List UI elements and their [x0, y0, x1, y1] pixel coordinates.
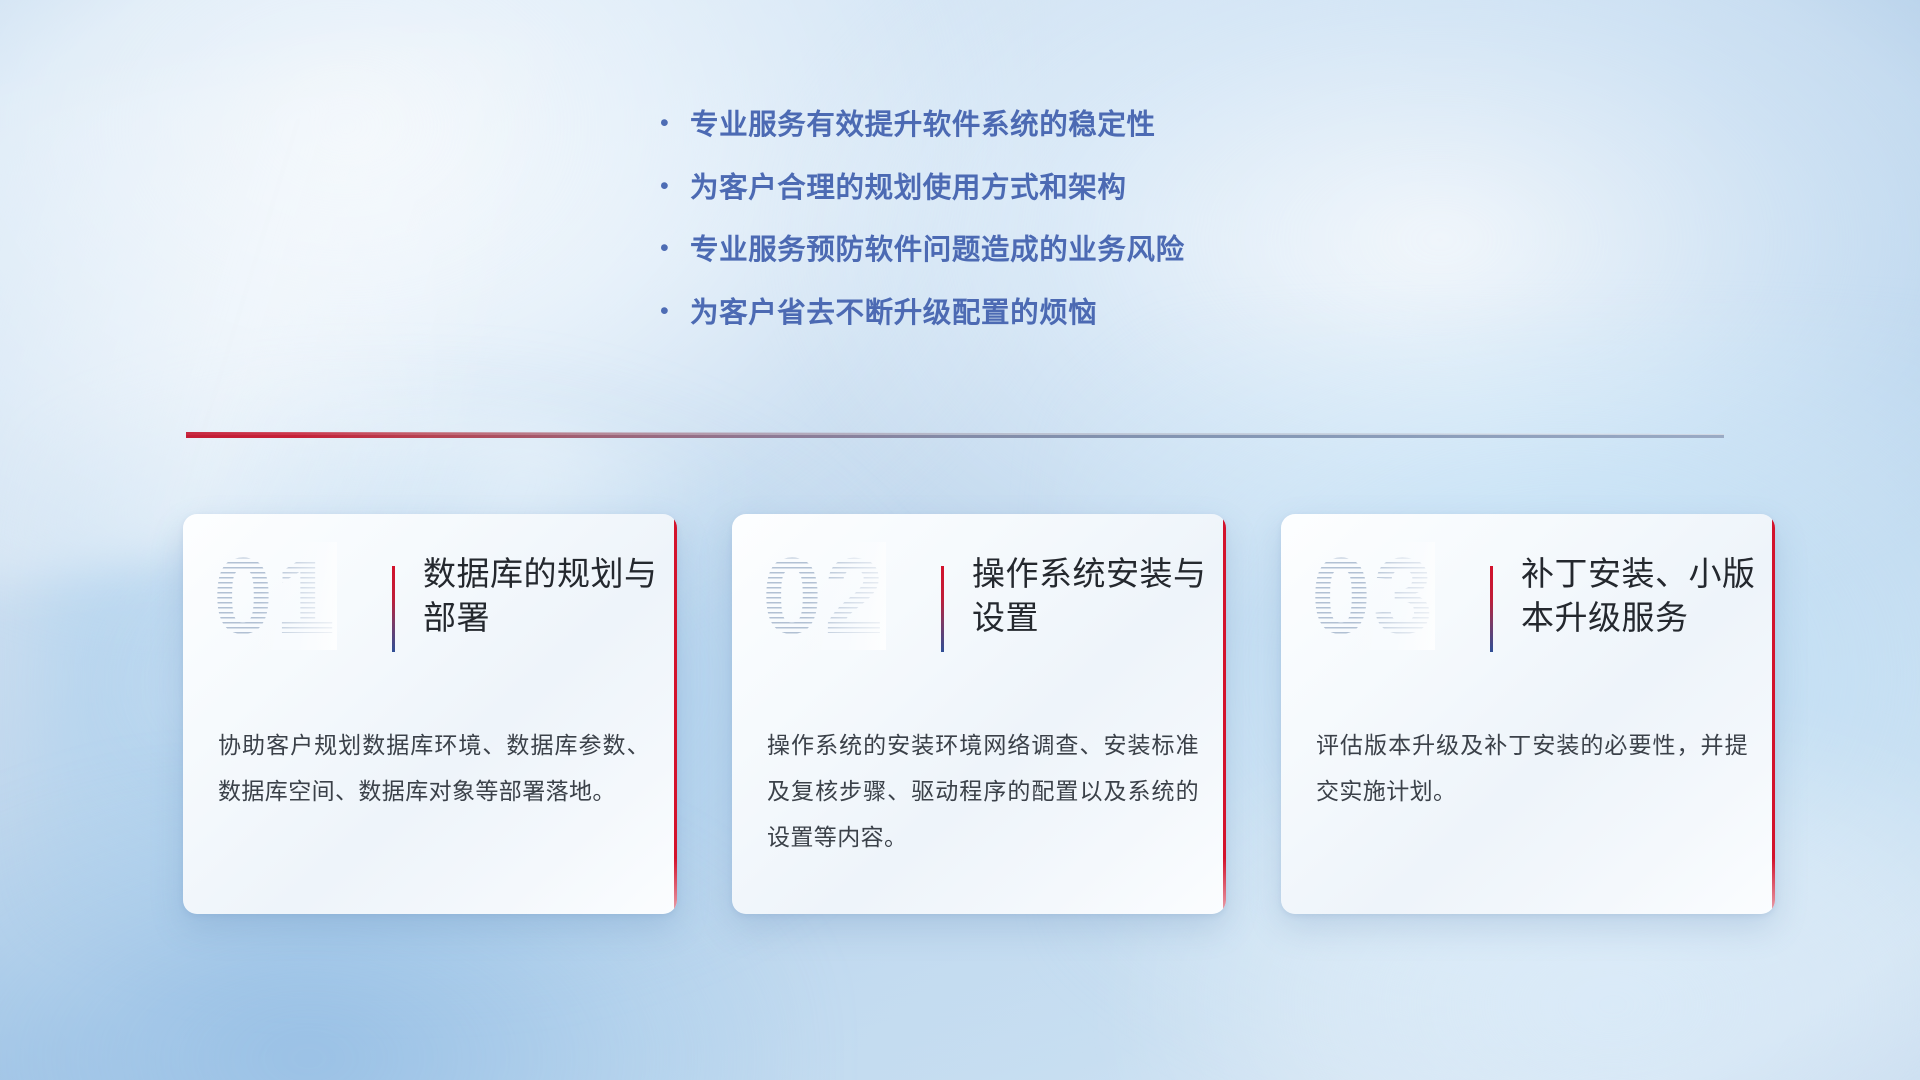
card-description: 评估版本升级及补丁安装的必要性，并提交实施计划。: [1316, 722, 1748, 814]
bullet-dot-icon: •: [660, 299, 690, 324]
bullet-item-text: 专业服务预防软件问题造成的业务风险: [690, 233, 1185, 269]
card-title: 数据库的规划与部署: [423, 552, 658, 640]
bullet-dot-icon: •: [660, 111, 690, 136]
bullet-dot-icon: •: [660, 236, 690, 261]
list-item: • 专业服务有效提升软件系统的稳定性: [660, 108, 1420, 144]
bullet-item-text: 专业服务有效提升软件系统的稳定性: [690, 108, 1156, 144]
card-title-rule: [392, 566, 395, 652]
divider-highlight: [186, 432, 1724, 435]
card-header: 02 操作系统安装与设置: [732, 514, 1226, 696]
bullet-item-text: 为客户合理的规划使用方式和架构: [690, 171, 1127, 207]
bullet-item-text: 为客户省去不断升级配置的烦恼: [690, 296, 1097, 332]
card-description: 协助客户规划数据库环境、数据库参数、数据库空间、数据库对象等部署落地。: [218, 722, 650, 814]
card-number-watermark: 02: [762, 542, 886, 650]
card-title-rule: [1490, 566, 1493, 652]
card-number-watermark: 03: [1311, 542, 1435, 650]
service-card-group: 01 数据库的规划与部署 协助客户规划数据库环境、数据库参数、数据库空间、数据库…: [183, 514, 1775, 914]
card-title-rule: [941, 566, 944, 652]
list-item: • 为客户省去不断升级配置的烦恼: [660, 296, 1420, 332]
service-card-01[interactable]: 01 数据库的规划与部署 协助客户规划数据库环境、数据库参数、数据库空间、数据库…: [183, 514, 677, 914]
service-card-02[interactable]: 02 操作系统安装与设置 操作系统的安装环境网络调查、安装标准及复核步骤、驱动程…: [732, 514, 1226, 914]
section-divider: [186, 428, 1724, 444]
card-number-watermark: 01: [213, 542, 337, 650]
card-title: 操作系统安装与设置: [972, 552, 1207, 640]
card-header: 03 补丁安装、小版本升级服务: [1281, 514, 1775, 696]
card-header: 01 数据库的规划与部署: [183, 514, 677, 696]
bullet-dot-icon: •: [660, 174, 690, 199]
card-description: 操作系统的安装环境网络调查、安装标准及复核步骤、驱动程序的配置以及系统的设置等内…: [767, 722, 1199, 860]
service-card-03[interactable]: 03 补丁安装、小版本升级服务 评估版本升级及补丁安装的必要性，并提交实施计划。: [1281, 514, 1775, 914]
list-item: • 专业服务预防软件问题造成的业务风险: [660, 233, 1420, 269]
benefits-bullet-list: • 专业服务有效提升软件系统的稳定性 • 为客户合理的规划使用方式和架构 • 专…: [660, 108, 1420, 359]
card-title: 补丁安装、小版本升级服务: [1521, 552, 1756, 640]
list-item: • 为客户合理的规划使用方式和架构: [660, 171, 1420, 207]
